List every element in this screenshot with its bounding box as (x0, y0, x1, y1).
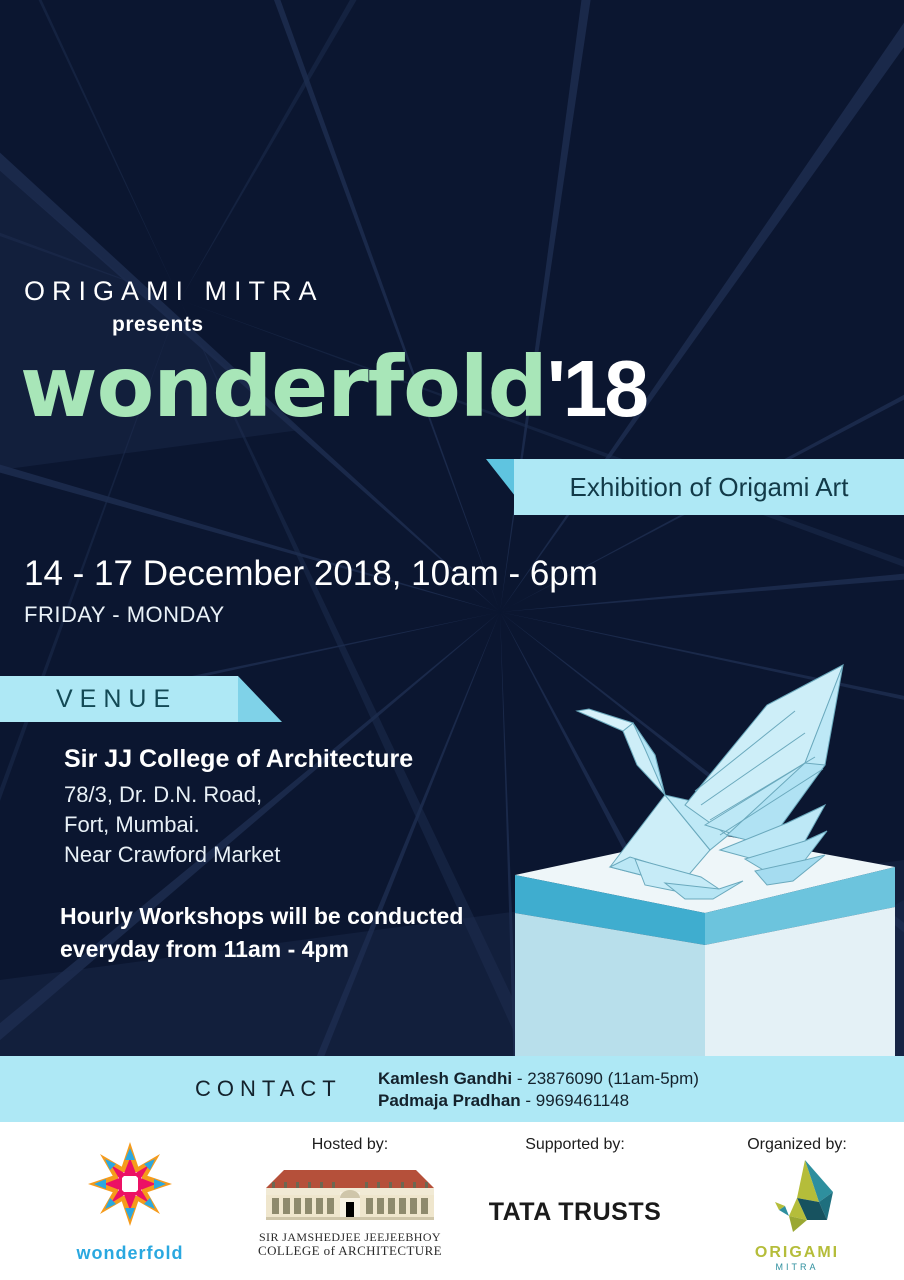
origami-mitra-logo-text: ORIGAMI MITRA (690, 1244, 904, 1272)
venue-address-line: 78/3, Dr. D.N. Road, (64, 780, 280, 810)
jj-college-name: SIR JAMSHEDJEE JEEJEEBHOY COLLEGE of ARC… (240, 1231, 460, 1257)
contact-detail: 23876090 (11am-5pm) (527, 1069, 699, 1088)
event-date: 14 - 17 December 2018, 10am - 6pm (24, 554, 598, 594)
contact-row: Padmaja Pradhan - 9969461148 (378, 1090, 699, 1112)
tata-trusts-logo-text: TATA TRUSTS (460, 1198, 690, 1227)
workshop-line: everyday from 11am - 4pm (60, 933, 463, 966)
organized-by-block: Organized by: ORIGAMI MITRA (690, 1122, 904, 1280)
title-year: '18 (547, 344, 646, 433)
contact-row: Kamlesh Gandhi - 23876090 (11am-5pm) (378, 1068, 699, 1090)
page-title: wonderfold'18 (20, 345, 646, 429)
banner-body: Exhibition of Origami Art (514, 459, 904, 515)
origami-logo-line2: MITRA (690, 1262, 904, 1272)
venue-label: VENUE (0, 676, 238, 722)
origami-logo-line1: ORIGAMI (690, 1244, 904, 1262)
hosted-by-block: Hosted by: (240, 1122, 460, 1280)
contact-detail: 9969461148 (536, 1091, 629, 1110)
organized-by-caption: Organized by: (690, 1136, 904, 1154)
jj-college-line2: COLLEGE of ARCHITECTURE (240, 1244, 460, 1257)
contact-label: CONTACT (195, 1076, 342, 1102)
presents-label: presents (112, 313, 204, 337)
poster-canvas: ORIGAMI MITRA presents wonderfold'18 Exh… (0, 0, 904, 1280)
contact-name: Kamlesh Gandhi (378, 1069, 512, 1088)
wonderfold-star-icon (75, 1136, 185, 1236)
contact-list: Kamlesh Gandhi - 23876090 (11am-5pm) Pad… (378, 1068, 699, 1112)
jj-college-building-icon (260, 1162, 440, 1224)
venue-address: 78/3, Dr. D.N. Road, Fort, Mumbai. Near … (64, 780, 280, 870)
title-main: wonderfold (20, 338, 547, 436)
event-days: FRIDAY - MONDAY (24, 602, 225, 628)
contact-name: Padmaja Pradhan (378, 1091, 521, 1110)
contact-separator: - (512, 1069, 527, 1088)
supported-by-block: Supported by: TATA TRUSTS (460, 1122, 690, 1280)
contact-separator: - (521, 1091, 536, 1110)
origami-mitra-bird-icon (749, 1158, 845, 1238)
workshop-info: Hourly Workshops will be conducted every… (60, 900, 463, 966)
hosted-by-caption: Hosted by: (240, 1136, 460, 1154)
wonderfold-logo-block: wonderfold (20, 1122, 240, 1280)
wonderfold-logo-text: wonderfold (20, 1243, 240, 1264)
brand-name: ORIGAMI MITRA (24, 276, 324, 307)
venue-address-line: Near Crawford Market (64, 840, 280, 870)
crane-svg (505, 645, 904, 1060)
footer-logos: wonderfold Hosted by: (0, 1122, 904, 1280)
venue-name: Sir JJ College of Architecture (64, 745, 413, 774)
exhibition-banner-label: Exhibition of Origami Art (514, 459, 904, 515)
venue-banner-body: VENUE (0, 676, 238, 722)
workshop-line: Hourly Workshops will be conducted (60, 900, 463, 933)
contact-bar: CONTACT Kamlesh Gandhi - 23876090 (11am-… (0, 1056, 904, 1122)
origami-crane-illustration (505, 645, 904, 1060)
supported-by-caption: Supported by: (460, 1136, 690, 1154)
venue-address-line: Fort, Mumbai. (64, 810, 280, 840)
